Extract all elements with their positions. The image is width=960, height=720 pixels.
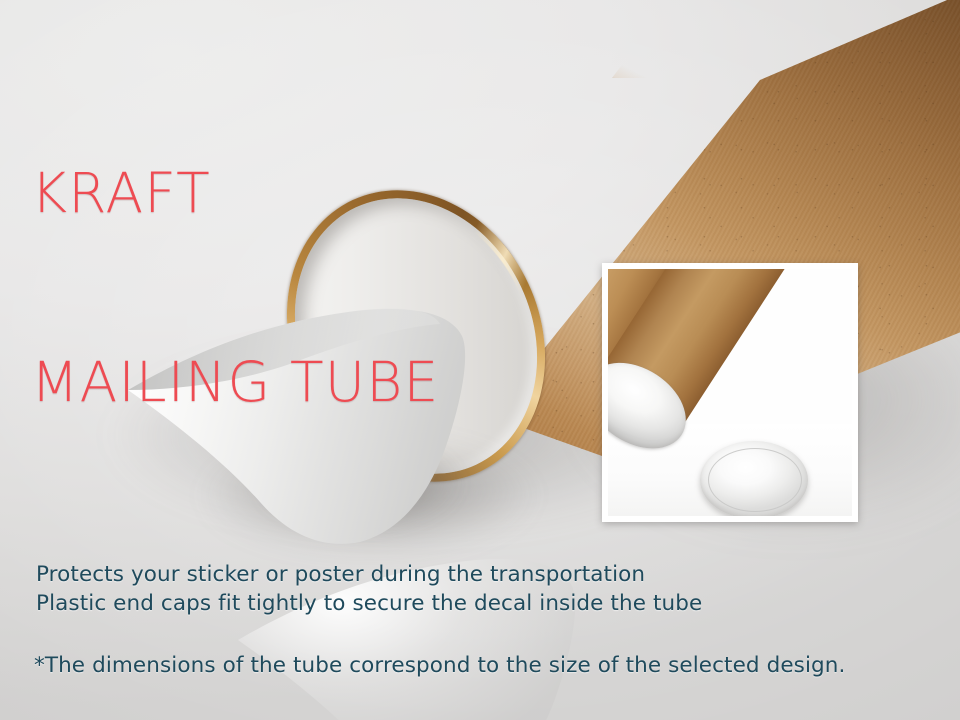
feature-description: Protects your sticker or poster during t… <box>36 560 702 618</box>
feature-line-2: Plastic end caps fit tightly to secure t… <box>36 589 702 618</box>
feature-line-1: Protects your sticker or poster during t… <box>36 560 702 589</box>
inset-photo-area <box>608 269 852 516</box>
title-line-2: MAILING TUBE <box>31 351 439 414</box>
page-title: KRAFT MAILING TUBE <box>31 36 439 540</box>
product-banner: KRAFT MAILING TUBE Protects your sticker… <box>0 0 960 720</box>
product-photo-inset <box>602 263 858 522</box>
inset-loose-cap-ring <box>708 448 802 512</box>
title-line-1: KRAFT <box>31 162 439 225</box>
footnote-text: *The dimensions of the tube correspond t… <box>34 653 845 678</box>
